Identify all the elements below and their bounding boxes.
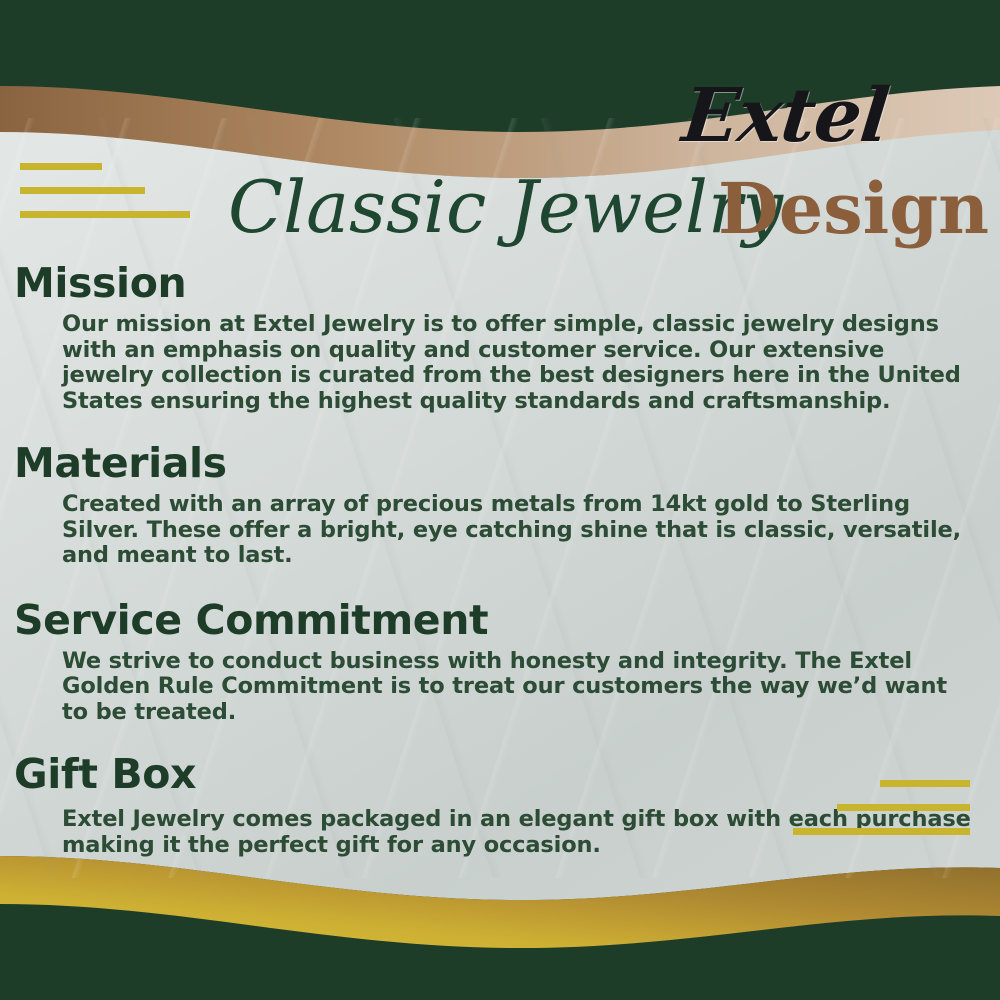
brand-name: Extel <box>678 72 892 160</box>
section-body-service-commitment: We strive to conduct business with hones… <box>62 649 978 726</box>
title-script-part: Classic Jewelry <box>228 155 783 259</box>
section-heading-service-commitment: Service Commitment <box>14 595 1000 645</box>
gold-rule-long-icon <box>793 828 970 835</box>
section-mission: Mission Our mission at Extel Jewelry is … <box>0 258 1000 414</box>
decor-rules-bottom-right <box>793 780 970 835</box>
section-heading-mission: Mission <box>14 258 1000 308</box>
section-body-mission: Our mission at Extel Jewelry is to offer… <box>62 312 978 414</box>
poster-canvas: Extel Classic Jewelry Design Mission Our… <box>0 0 1000 1000</box>
section-materials: Materials Created with an array of preci… <box>0 438 1000 569</box>
title-serif-part: Design <box>718 155 989 263</box>
section-body-materials: Created with an array of precious metals… <box>62 492 978 569</box>
gold-rule-short-icon <box>880 780 970 787</box>
gold-rule-medium-icon <box>837 804 970 811</box>
section-service-commitment: Service Commitment We strive to conduct … <box>0 595 1000 726</box>
section-heading-materials: Materials <box>14 438 1000 488</box>
page-title: Classic Jewelry Design <box>0 155 1000 265</box>
brand-logo: Extel <box>615 72 955 160</box>
